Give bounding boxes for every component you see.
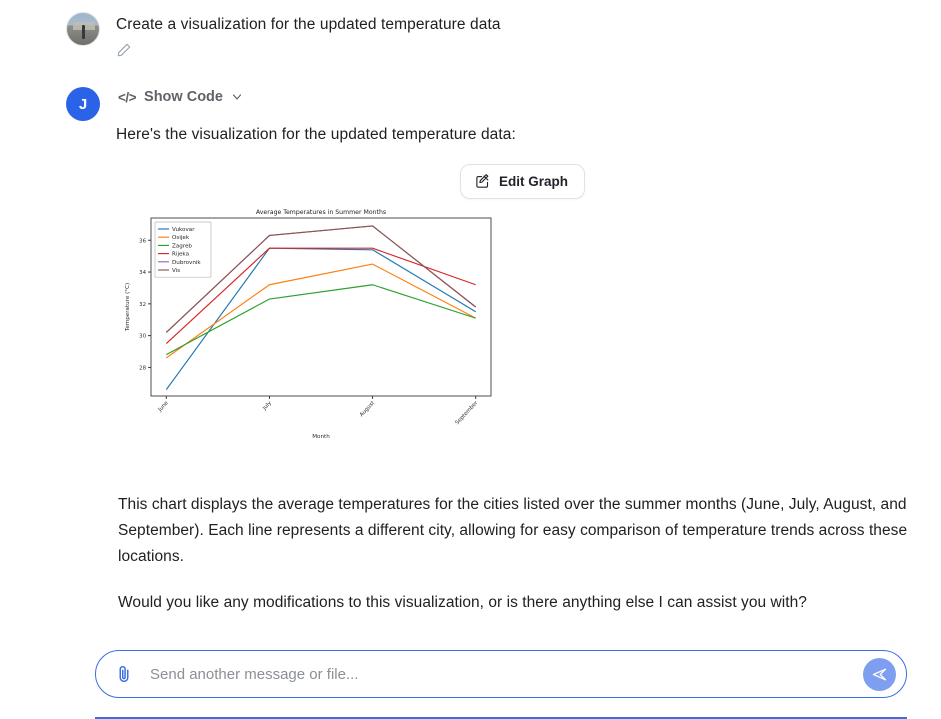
x-tick-label: September (454, 400, 479, 426)
user-message-body: Create a visualization for the updated t… (116, 12, 501, 58)
edit-graph-label: Edit Graph (499, 174, 568, 189)
legend-label-rijeka: Rijeka (172, 252, 189, 258)
y-tick-label: 34 (139, 270, 146, 276)
y-axis-title: Temperature (°C) (125, 283, 131, 332)
x-tick-label: August (359, 400, 376, 418)
legend-label-vukovar: Vukovar (172, 227, 195, 233)
chevron-down-icon[interactable] (231, 91, 243, 103)
user-message: Create a visualization for the updated t… (66, 12, 886, 58)
chart-svg: Average Temperatures in Summer Months283… (116, 204, 496, 448)
graph-block: Edit Graph Average Temperatures in Summe… (116, 166, 906, 436)
legend-label-vis: Vis (172, 268, 180, 274)
send-button[interactable] (863, 658, 896, 691)
assistant-message: J </> Show Code Here's the visualization… (66, 87, 906, 436)
y-tick-label: 28 (139, 365, 146, 371)
assistant-paragraph-1: This chart displays the average temperat… (118, 492, 908, 570)
series-line-vis (166, 226, 475, 332)
assistant-message-body: </> Show Code Here's the visualization f… (116, 87, 906, 436)
assistant-avatar: J (66, 87, 100, 121)
y-tick-label: 30 (139, 334, 146, 340)
chat-page: Create a visualization for the updated t… (0, 0, 941, 719)
series-line-vukovar (166, 248, 475, 389)
paperclip-icon[interactable] (114, 664, 134, 684)
code-brackets-icon: </> (118, 90, 136, 105)
legend-label-osijek: Osijek (172, 235, 190, 241)
show-code-toggle[interactable]: </> Show Code (116, 87, 245, 107)
series-line-osijek (166, 264, 475, 358)
series-line-dubrovnik (166, 226, 475, 332)
legend-label-dubrovnik: Dubrovnik (172, 260, 201, 266)
edit-graph-button[interactable]: Edit Graph (460, 164, 585, 199)
x-tick-label: July (261, 400, 273, 413)
chart-title: Average Temperatures in Summer Months (256, 209, 386, 216)
y-tick-label: 32 (139, 302, 146, 308)
temperature-line-chart: Average Temperatures in Summer Months283… (116, 204, 496, 448)
send-arrow-icon (871, 666, 888, 683)
y-tick-label: 36 (139, 238, 146, 244)
x-tick-label: June (157, 400, 171, 414)
assistant-paragraph-2: Would you like any modifications to this… (118, 590, 908, 616)
x-axis-title: Month (312, 434, 330, 440)
assistant-intro-text: Here's the visualization for the updated… (116, 126, 906, 144)
show-code-label: Show Code (144, 89, 223, 105)
user-message-text: Create a visualization for the updated t… (116, 15, 501, 36)
edit-square-icon (475, 174, 490, 189)
message-composer[interactable] (95, 650, 907, 698)
message-input[interactable] (148, 665, 849, 684)
user-photo-avatar (66, 12, 100, 46)
pencil-icon[interactable] (116, 42, 132, 58)
series-line-zagreb (166, 285, 475, 355)
legend-label-zagreb: Zagreb (172, 243, 192, 249)
